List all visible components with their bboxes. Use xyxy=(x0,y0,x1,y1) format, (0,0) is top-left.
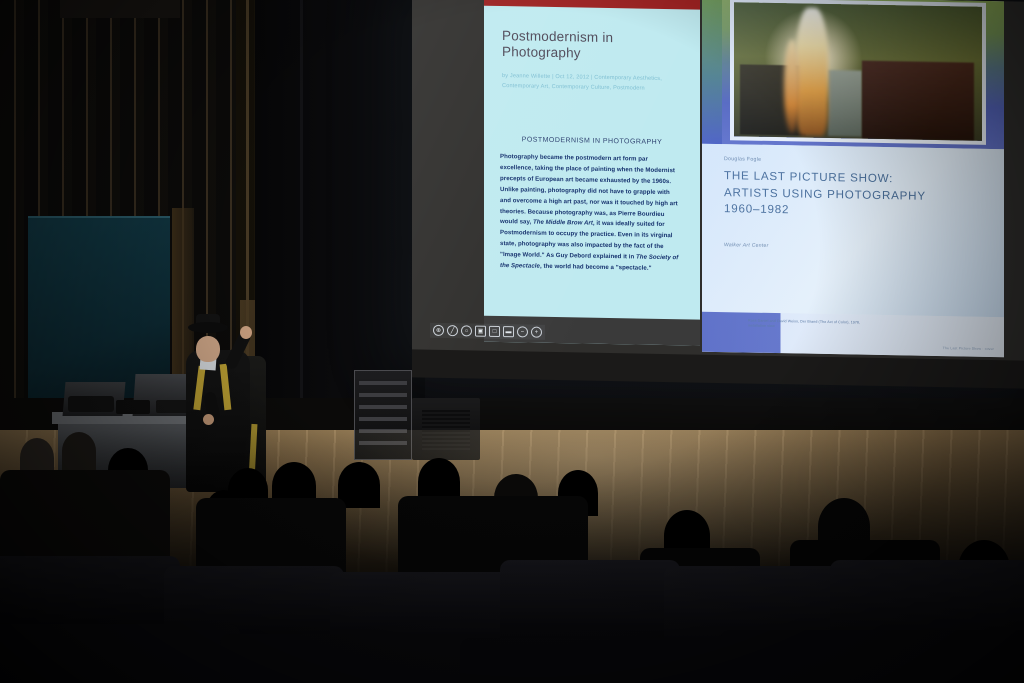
projection-screen: Postmodernism inPhotography by Jeanne Wi… xyxy=(412,0,1024,370)
article-section-heading: POSTMODERNISM IN PHOTOGRAPHY xyxy=(484,136,700,147)
seat-back xyxy=(0,556,180,626)
audience-head xyxy=(338,462,380,508)
flame-shape-secondary xyxy=(784,39,800,133)
magnifier-icon[interactable]: ○ xyxy=(461,325,472,336)
lectern-equipment-1 xyxy=(68,396,114,412)
screenshot-root: Postmodernism inPhotography by Jeanne Wi… xyxy=(0,0,1024,683)
annotation-toolbar[interactable]: ⊕ ╱ ○ ▣ □ ▬ − + xyxy=(430,323,545,340)
pen-icon[interactable]: ╱ xyxy=(447,325,458,336)
cover-caption: Ross Daniel and David Weiss, Der Brand (… xyxy=(748,319,868,332)
speaker-head xyxy=(196,336,220,362)
screen-icon[interactable]: ▣ xyxy=(475,326,486,337)
lectern-equipment-2 xyxy=(116,400,150,414)
seat-back xyxy=(220,634,480,683)
seat-back xyxy=(460,638,740,683)
cover-gradient-top xyxy=(702,0,1004,149)
article-body: Photography became the postmodern art fo… xyxy=(500,152,680,275)
cover-spine xyxy=(702,0,722,144)
pointer-icon[interactable]: ⊕ xyxy=(433,325,444,336)
minus-icon[interactable]: − xyxy=(517,326,528,337)
seat-back xyxy=(830,560,1024,640)
wall-header-beam xyxy=(60,0,180,18)
cover-author: Douglas Fogle xyxy=(724,156,761,163)
cover-title: THE LAST PICTURE SHOW: ARTISTS USING PHO… xyxy=(724,168,926,221)
photo-object-center xyxy=(828,70,862,137)
speaker-raised-hand xyxy=(240,326,252,339)
display-icon[interactable]: ▬ xyxy=(503,326,514,337)
cover-photograph xyxy=(734,2,982,141)
academic-cap-brim xyxy=(188,322,228,333)
photo-object-right xyxy=(862,61,974,141)
seat-back xyxy=(0,624,240,683)
seat-back xyxy=(720,630,1024,683)
window-icon[interactable]: □ xyxy=(489,326,500,337)
article-byline: by Jeanne Willette | Oct 12, 2012 | Cont… xyxy=(502,72,678,94)
audience-head xyxy=(62,432,96,470)
audience-body xyxy=(0,470,170,560)
speaker-lower-hand xyxy=(203,414,214,425)
seat-back xyxy=(500,560,680,638)
slide-left-pane: Postmodernism inPhotography by Jeanne Wi… xyxy=(484,0,700,346)
drape-fold xyxy=(300,0,303,460)
flame-shape xyxy=(796,7,828,136)
slide-right-pane: Douglas Fogle THE LAST PICTURE SHOW: ART… xyxy=(702,0,1004,357)
plus-icon[interactable]: + xyxy=(531,327,542,338)
site-banner-bar xyxy=(484,0,700,10)
cover-publisher: Walker Art Center xyxy=(724,242,769,249)
article-title: Postmodernism inPhotography xyxy=(502,28,687,63)
